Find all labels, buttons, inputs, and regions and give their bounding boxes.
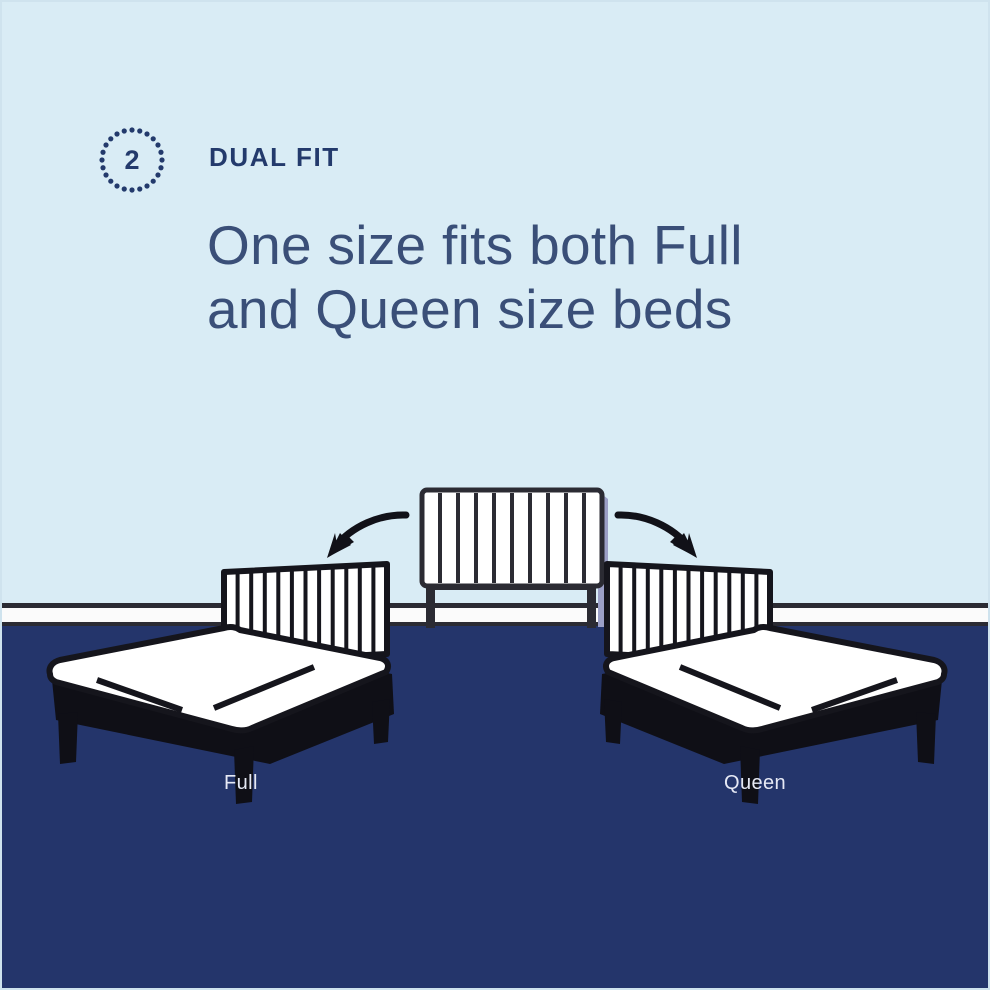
bed-full bbox=[49, 564, 394, 804]
queen-leg-back-left bbox=[604, 699, 622, 744]
bed-label-queen: Queen bbox=[724, 772, 786, 795]
full-leg-back-right bbox=[372, 699, 390, 744]
bed-label-full: Full bbox=[224, 772, 258, 795]
bed-illustration bbox=[2, 2, 990, 990]
queen-leg-front-right bbox=[916, 712, 936, 764]
arrow-to-queen bbox=[618, 515, 697, 558]
universal-headboard bbox=[422, 490, 608, 628]
full-leg-front-left bbox=[58, 712, 78, 764]
illustration-canvas: 2 DUAL FIT One size fits both Full and Q… bbox=[0, 0, 990, 990]
bed-queen bbox=[600, 564, 945, 804]
arrow-to-full bbox=[327, 515, 406, 558]
